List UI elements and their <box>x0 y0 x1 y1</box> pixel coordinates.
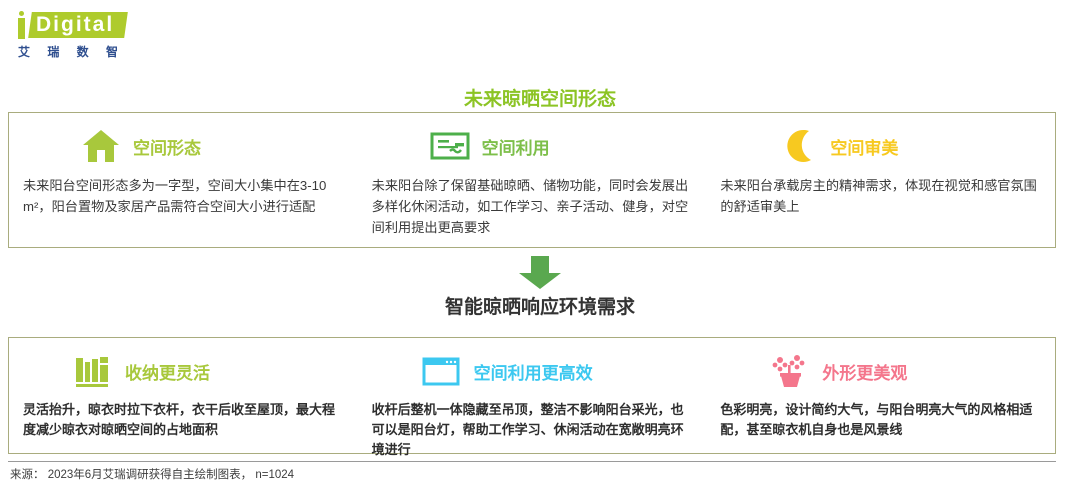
top-column-space-form-title: 空间形态 <box>133 134 201 159</box>
top-column-space-aesthetic-header: 空间审美 <box>720 123 1041 169</box>
top-column-space-use-body: 未来阳台除了保留基础晾晒、储物功能，同时会发展出多样化休闲活动，如工作学习、亲子… <box>372 169 693 238</box>
bottom-column-appearance: 外形更美观 色彩明亮，设计简约大气，与阳台明亮大气的风格相适配，甚至晾衣机自身也… <box>706 338 1055 453</box>
logo-subtitle: 艾 瑞 数 智 <box>18 43 125 60</box>
moon-icon <box>778 126 818 166</box>
top-column-space-use-title: 空间利用 <box>482 134 550 159</box>
logo-wordmark: Digital <box>36 13 114 37</box>
top-column-space-aesthetic: 空间审美 未来阳台承载房主的精神需求，体现在视觉和感官氛围的舒适审美上 <box>706 113 1055 247</box>
bottom-column-storage-body: 灵活抬升，晾衣时拉下衣杆，衣干后收至屋顶，最大程度减少晾衣对晾晒空间的占地面积 <box>23 394 344 440</box>
top-column-space-aesthetic-body: 未来阳台承载房主的精神需求，体现在视觉和感官氛围的舒适审美上 <box>720 169 1041 217</box>
top-section-title: 未来晾晒空间形态 <box>0 84 1080 111</box>
bottom-column-storage-title: 收纳更灵活 <box>125 359 210 384</box>
top-column-space-aesthetic-title: 空间审美 <box>830 134 898 159</box>
bottom-column-appearance-header: 外形更美观 <box>720 348 1041 394</box>
top-column-space-use: 空间利用 未来阳台除了保留基础晾晒、储物功能，同时会发展出多样化休闲活动，如工作… <box>358 113 707 247</box>
logo-i-stem-icon <box>18 18 25 39</box>
brand-logo: Digital 艾 瑞 数 智 <box>14 10 214 60</box>
note-rectangle-icon <box>430 126 470 166</box>
bottom-column-storage-header: 收纳更灵活 <box>23 348 344 394</box>
bottom-column-appearance-title: 外形更美观 <box>822 359 907 384</box>
top-column-space-form-body: 未来阳台空间形态多为一字型，空间大小集中在3-10 m²，阳台置物及家居产品需符… <box>23 169 344 217</box>
potted-flower-icon <box>770 351 810 391</box>
bottom-panel: 收纳更灵活 灵活抬升，晾衣时拉下衣杆，衣干后收至屋顶，最大程度减少晾衣对晾晒空间… <box>8 337 1056 454</box>
top-panel: 空间形态 未来阳台空间形态多为一字型，空间大小集中在3-10 m²，阳台置物及家… <box>8 112 1056 248</box>
down-arrow-icon <box>517 256 563 290</box>
footer-divider <box>8 461 1056 462</box>
bottom-column-storage: 收纳更灵活 灵活抬升，晾衣时拉下衣杆，衣干后收至屋顶，最大程度减少晾衣对晾晒空间… <box>9 338 358 453</box>
bottom-column-efficiency: 空间利用更高效 收杆后整机一体隐藏至吊顶，整洁不影响阳台采光，也可以是阳台灯，帮… <box>358 338 707 453</box>
logo-mark: Digital <box>14 10 134 40</box>
house-icon <box>81 126 121 166</box>
top-column-space-form-header: 空间形态 <box>23 123 344 169</box>
logo-i-dot-icon <box>19 11 24 16</box>
books-shelf-icon <box>73 351 113 391</box>
middle-section-title: 智能晾晒响应环境需求 <box>0 292 1080 319</box>
top-column-space-use-header: 空间利用 <box>372 123 693 169</box>
bottom-column-appearance-body: 色彩明亮，设计简约大气，与阳台明亮大气的风格相适配，甚至晾衣机自身也是风景线 <box>720 394 1041 440</box>
top-column-space-form: 空间形态 未来阳台空间形态多为一字型，空间大小集中在3-10 m²，阳台置物及家… <box>9 113 358 247</box>
bottom-column-efficiency-header: 空间利用更高效 <box>372 348 693 394</box>
bottom-column-efficiency-body: 收杆后整机一体隐藏至吊顶，整洁不影响阳台采光，也可以是阳台灯，帮助工作学习、休闲… <box>372 394 693 460</box>
source-note: 来源： 2023年6月艾瑞调研获得自主绘制图表， n=1024 <box>10 466 294 482</box>
bottom-column-efficiency-title: 空间利用更高效 <box>474 359 593 384</box>
window-icon <box>422 351 462 391</box>
